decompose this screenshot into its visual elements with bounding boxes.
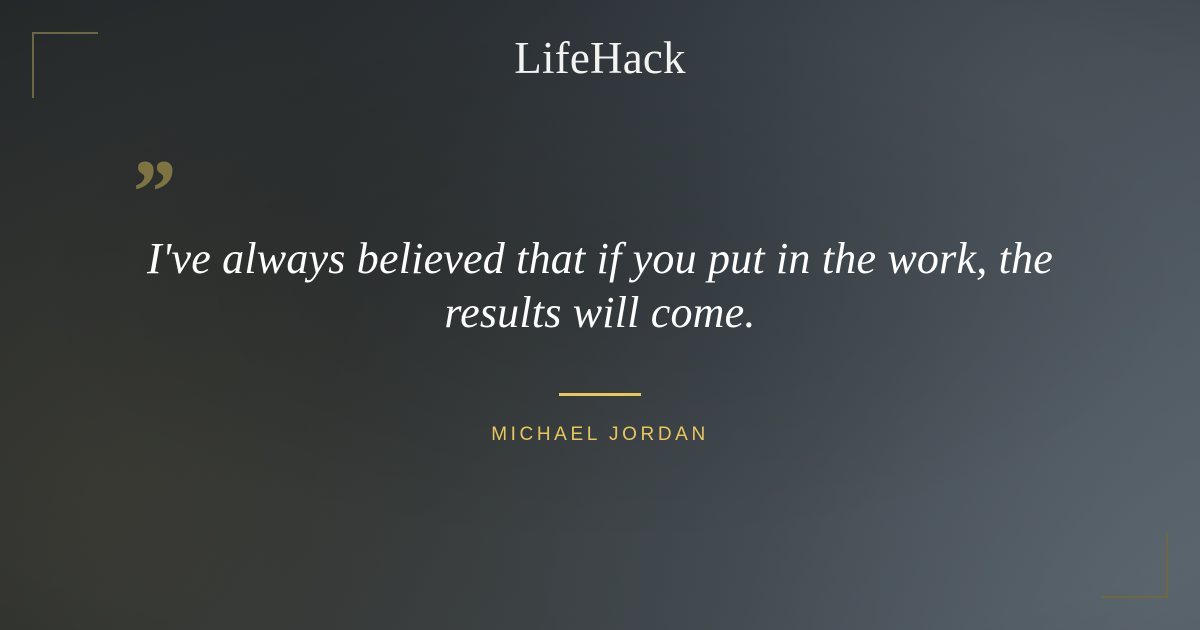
brand-logo: LifeHack xyxy=(0,36,1200,81)
quote-text: I've always believed that if you put in … xyxy=(100,232,1100,339)
quotation-mark-icon: ” xyxy=(128,146,174,238)
quote-author: MICHAEL JORDAN xyxy=(100,424,1100,446)
quote-content: I've always believed that if you put in … xyxy=(100,232,1100,446)
corner-bracket-bottom-right xyxy=(1102,532,1168,598)
accent-divider xyxy=(559,393,641,396)
quote-card: LifeHack ” I've always believed that if … xyxy=(0,0,1200,630)
